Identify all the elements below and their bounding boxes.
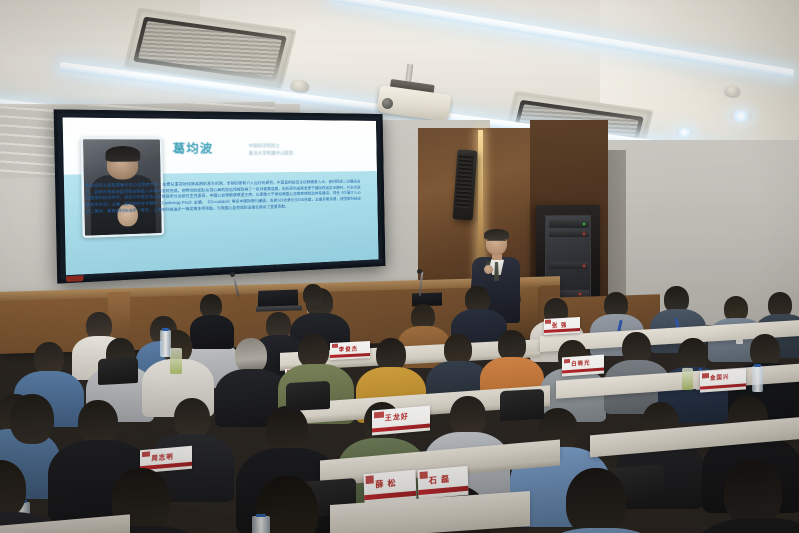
recessed-downlight (730, 110, 752, 122)
name-card-text: 石 磊 (429, 472, 467, 486)
name-card-text: 周志明 (151, 449, 191, 461)
conference-hall-photo: 葛均波 中国科学院院士 复旦大学附属中山医院 葛均波院士是我国著名的心血管病专家… (0, 0, 799, 533)
audience-seating: 李俊杰 张 强 陈华林 (0, 290, 799, 533)
name-card-text: 张 强 (552, 320, 579, 329)
speaker-hand (484, 265, 493, 274)
name-card-text: 金国兴 (710, 372, 745, 382)
tea-cup (682, 368, 693, 390)
name-card-text: 王龙好 (385, 410, 429, 424)
microphone-head (230, 272, 235, 277)
name-card: 张 强 (544, 317, 580, 335)
water-bottle (752, 366, 763, 392)
name-card-text: 白晓光 (571, 358, 603, 368)
tea-cup (170, 348, 182, 374)
name-card-text: 薛 松 (375, 476, 415, 490)
microphone-head (417, 269, 422, 274)
recessed-downlight (676, 128, 693, 137)
screen-pull-tab (66, 275, 84, 282)
slide-title: 葛均波 (172, 140, 213, 158)
chair-back (98, 357, 138, 385)
projection-screen: 葛均波 中国科学院院士 复旦大学附属中山医院 葛均波院士是我国著名的心血管病专家… (54, 109, 386, 283)
name-card-text: 李俊杰 (339, 344, 369, 354)
water-bottle (160, 330, 171, 357)
speaker-hair (484, 229, 509, 240)
slide-subtitle: 中国科学院院士 复旦大学附属中山医院 (249, 141, 294, 157)
name-card: 白晓光 (562, 355, 604, 377)
name-card: 金国兴 (700, 368, 746, 392)
chair-back (286, 381, 330, 411)
water-bottle (252, 516, 270, 533)
chair-back (500, 389, 544, 421)
name-card: 李俊杰 (330, 341, 370, 360)
name-card: 王龙好 (372, 405, 430, 435)
name-card: 石 磊 (418, 466, 469, 499)
slide-surface: 葛均波 中国科学院院士 复旦大学附属中山医院 葛均波院士是我国著名的心血管病专家… (63, 117, 379, 275)
speaker-glasses (487, 240, 506, 244)
